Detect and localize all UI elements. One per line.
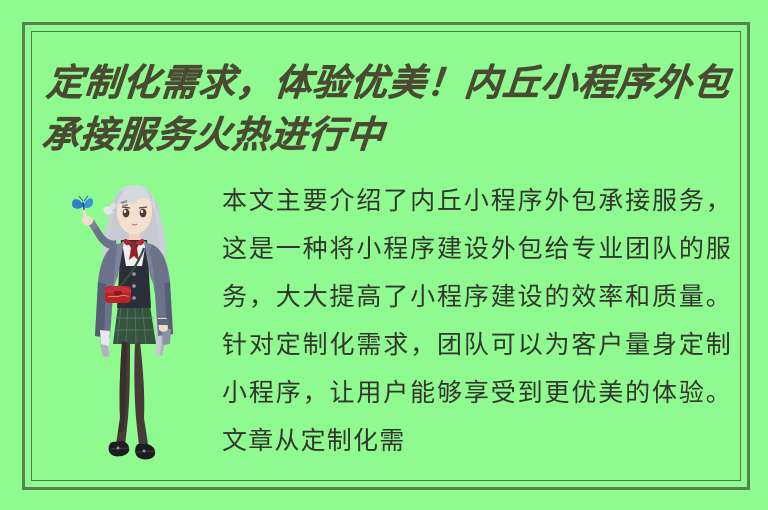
- page-title: 定制化需求，体验优美！内丘小程序外包承接服务火热进行中: [39, 58, 738, 162]
- poster-canvas: 定制化需求，体验优美！内丘小程序外包承接服务火热进行中: [0, 0, 768, 510]
- article-summary-text: 本文主要介绍了内丘小程序外包承接服务，这是一种将小程序建设外包给专业团队的服务，…: [222, 178, 732, 466]
- anime-girl-standing-illustration: [58, 178, 210, 466]
- shoes: [109, 441, 156, 459]
